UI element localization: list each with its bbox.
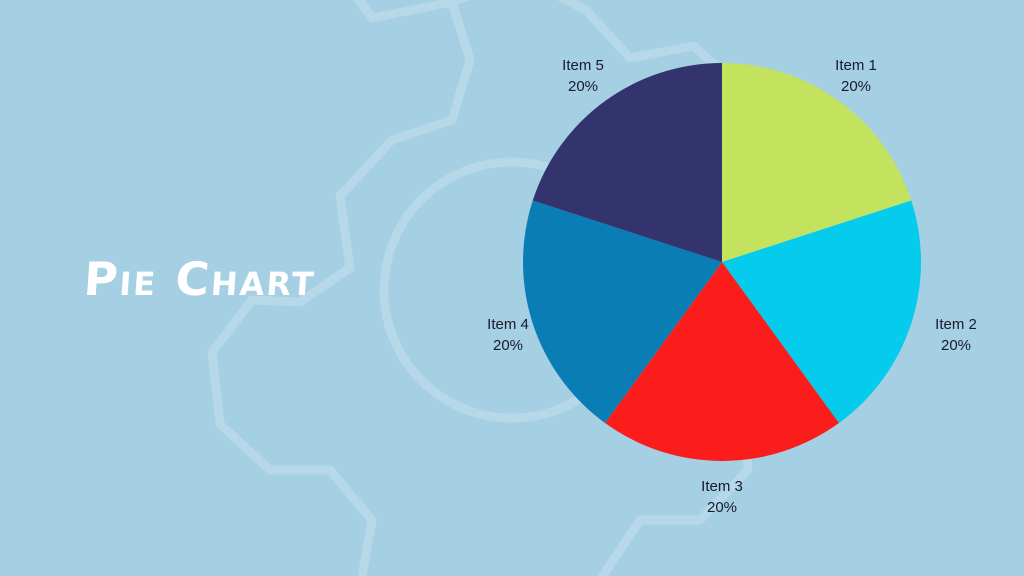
pie-chart-svg — [523, 63, 921, 461]
pie-label-item-3-percent: 20% — [666, 497, 778, 518]
pie-label-item-5-percent: 20% — [527, 76, 639, 97]
pie-label-item-1-percent: 20% — [800, 76, 912, 97]
pie-label-item-2-percent: 20% — [900, 335, 1012, 356]
pie-label-item-4: Item 4 20% — [452, 314, 564, 356]
pie-label-item-4-percent: 20% — [452, 335, 564, 356]
pie-label-item-5: Item 5 20% — [527, 55, 639, 97]
pie-label-item-1-name: Item 1 — [800, 55, 912, 76]
page-title: Pie Chart — [82, 256, 317, 302]
pie-label-item-2: Item 2 20% — [900, 314, 1012, 356]
pie-chart — [523, 63, 921, 461]
pie-label-item-2-name: Item 2 — [900, 314, 1012, 335]
pie-label-item-3-name: Item 3 — [666, 476, 778, 497]
pie-label-item-3: Item 3 20% — [666, 476, 778, 518]
pie-label-item-5-name: Item 5 — [527, 55, 639, 76]
slide-canvas: Pie Chart Item 5 20% Item 1 20% Item 2 2… — [0, 0, 1024, 576]
pie-label-item-4-name: Item 4 — [452, 314, 564, 335]
pie-label-item-1: Item 1 20% — [800, 55, 912, 97]
